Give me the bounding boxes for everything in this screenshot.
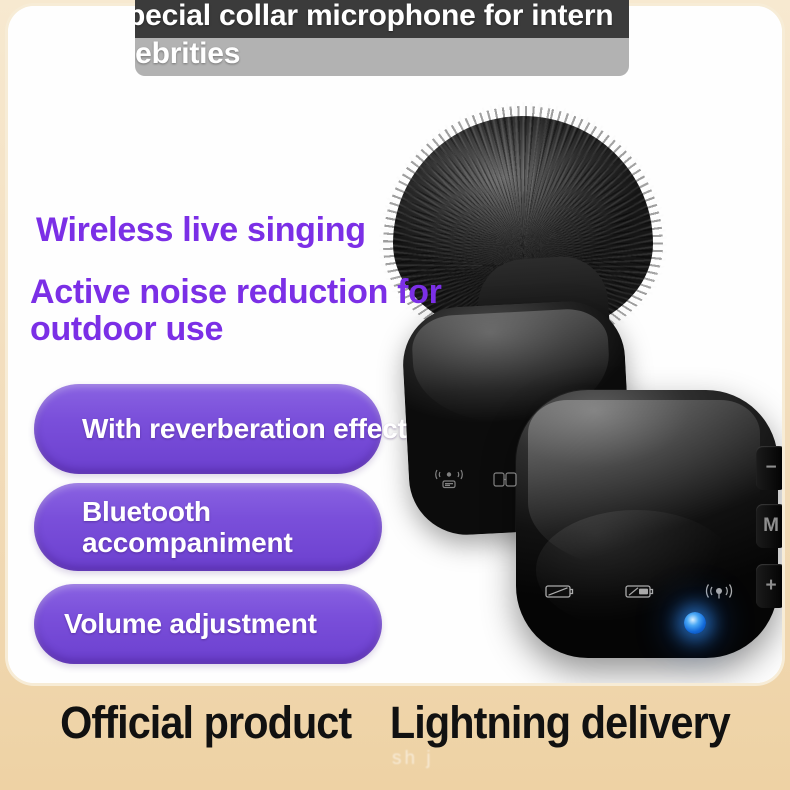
header-banner: pecial collar microphone for intern lebr… [135,0,629,76]
side-button-group: − M + [756,446,782,624]
wireless-signal-icon [702,580,736,602]
mode-button[interactable]: M [756,504,782,548]
battery-empty-icon [542,580,576,602]
banner-title: pecial collar microphone for intern lebr… [135,0,629,74]
banner-title-line1: pecial collar microphone for intern [135,0,613,32]
white-content-card: − M + Wireless live singing Active noise… [8,6,782,683]
headline-active-noise-reduction: Active noise reduction for outdoor use [30,274,530,349]
back-device-icon-row [432,468,522,490]
footer-lightning-delivery: Lightning delivery [390,700,730,745]
feature-pill-label: With reverberation effect [82,413,407,444]
volume-down-button[interactable]: − [756,446,782,490]
feature-pill-volume: Volume adjustment [34,584,382,664]
feature-pill-bluetooth: Bluetooth accompaniment [34,483,382,571]
advertisement-image: − M + Wireless live singing Active noise… [0,0,790,790]
feature-pill-label: Volume adjustment [64,608,317,639]
wireless-signal-icon [432,468,466,490]
footer-taglines: Official product Lightning delivery [32,700,759,745]
volume-up-button[interactable]: + [756,564,782,608]
front-body-sheen-lower [536,510,736,630]
pairing-link-icon [488,468,522,490]
feature-pill-label: Bluetooth accompaniment [82,496,382,559]
battery-charging-icon [622,580,656,602]
front-device-icon-row [542,580,736,602]
footer-official-product: Official product [60,700,351,745]
front-microphone-body [516,390,778,658]
footer-strip: Official product Lightning delivery [0,686,790,790]
status-led-indicator [684,612,706,634]
banner-title-line2: lebrities [135,34,629,74]
headline-wireless-live-singing: Wireless live singing [36,212,366,249]
feature-pill-reverberation: With reverberation effect [34,384,382,474]
